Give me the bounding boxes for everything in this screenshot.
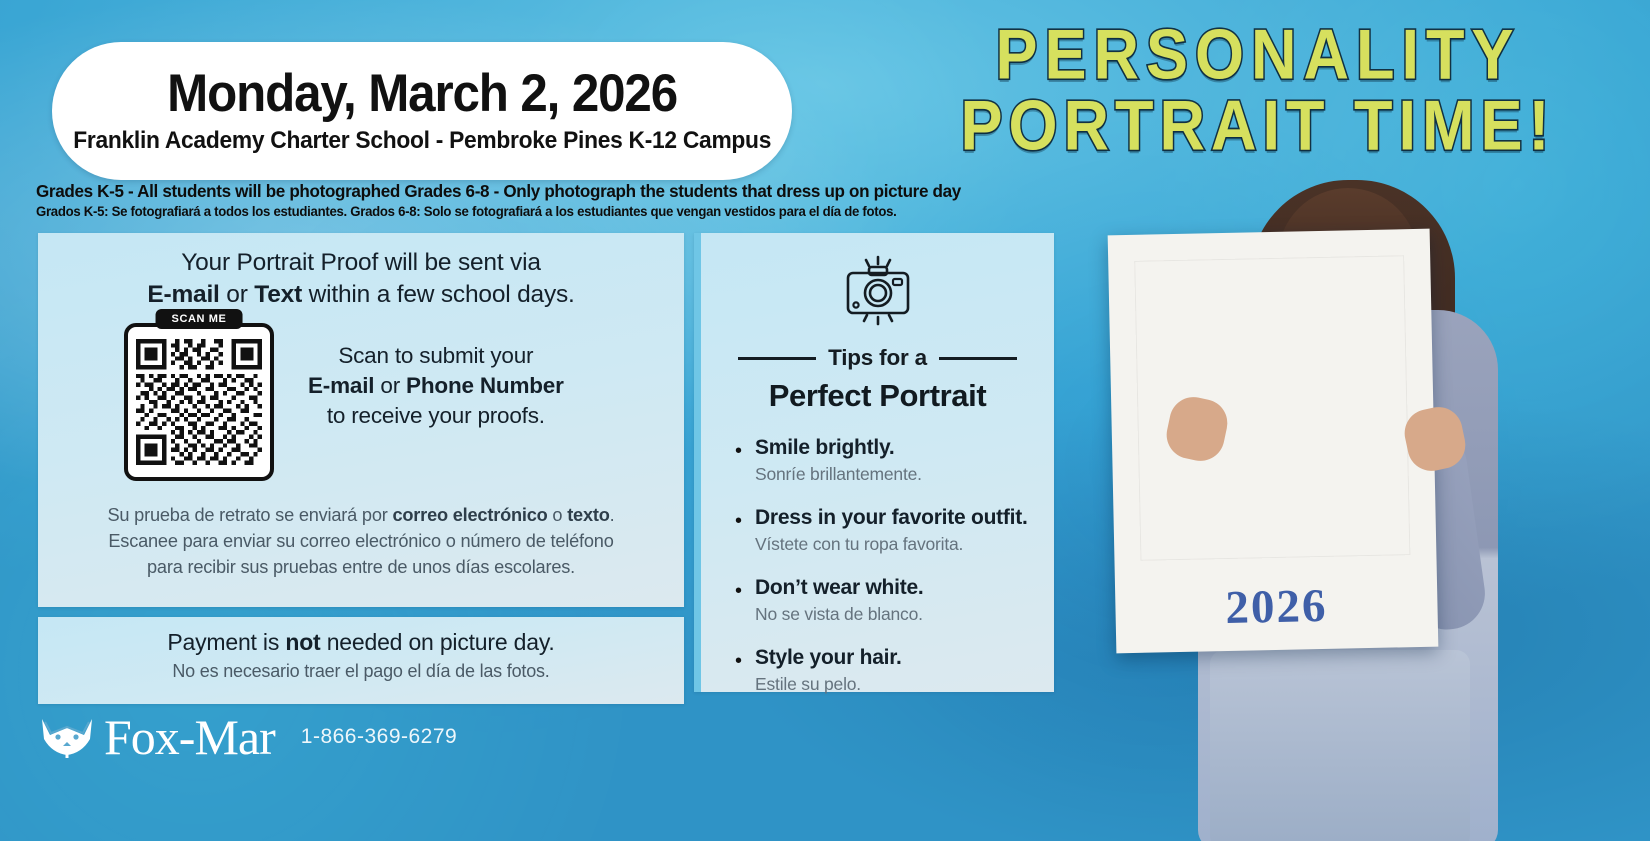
tip-english: Style your hair.	[755, 646, 902, 670]
tip-spanish: No se vista de blanco.	[755, 604, 923, 625]
proof-spanish-line-2: Escanee para enviar su correo electrónic…	[52, 529, 670, 555]
portrait-proof-panel: Your Portrait Proof will be sent via E-m…	[38, 233, 684, 607]
scan-line-2: E-mail or Phone Number	[308, 371, 564, 401]
bullet-icon: •	[735, 581, 742, 625]
bullet-icon: •	[735, 651, 742, 695]
grades-note: Grades K-5 - All students will be photog…	[36, 181, 1126, 219]
tips-eyebrow-text: Tips for a	[828, 345, 927, 371]
tip-english: Smile brightly.	[755, 436, 922, 460]
headline-line-1: PERSONALITY	[878, 22, 1638, 88]
payment-english: Payment is not needed on picture day.	[38, 617, 684, 656]
payment-en-not: not	[285, 629, 320, 655]
tip-spanish: Vístete con tu ropa favorita.	[755, 534, 1028, 555]
scan-line-1: Scan to submit your	[308, 341, 564, 371]
bullet-icon: •	[735, 441, 742, 485]
proof-es-o: o	[548, 505, 568, 525]
qr-frame[interactable]	[124, 323, 274, 481]
proof-es-a: Su prueba de retrato se enviará por	[107, 505, 392, 525]
picture-day-date: Monday, March 2, 2026	[167, 67, 677, 121]
qr-code-icon[interactable]	[136, 339, 262, 465]
scan-me-badge: SCAN ME	[156, 309, 243, 329]
scan-or: or	[374, 373, 406, 398]
headline-line-2: PORTRAIT TIME!	[878, 94, 1638, 160]
grades-note-english: Grades K-5 - All students will be photog…	[36, 181, 1093, 202]
qr-wrapper[interactable]: SCAN ME	[124, 323, 274, 481]
proof-es-texto: texto	[567, 505, 609, 525]
proof-title: Your Portrait Proof will be sent via E-m…	[38, 233, 684, 309]
tips-panel: Tips for a Perfect Portrait • Smile brig…	[694, 233, 1054, 692]
phone-number: 1-866-369-6279	[301, 725, 457, 749]
rule-right	[939, 357, 1017, 360]
payment-en-post: needed on picture day.	[321, 629, 555, 655]
date-pill: Monday, March 2, 2026 Franklin Academy C…	[52, 42, 792, 180]
tip-english: Dress in your favorite outfit.	[755, 506, 1028, 530]
payment-en-pre: Payment is	[167, 629, 285, 655]
polaroid-frame: 2026	[1108, 229, 1439, 654]
proof-es-email: correo electrónico	[392, 505, 547, 525]
proof-title-text: Text	[254, 281, 302, 308]
grades-note-spanish: Grados K-5: Se fotografiará a todos los …	[36, 204, 1093, 219]
qr-row: SCAN ME	[38, 309, 684, 481]
student-jeans	[1210, 650, 1470, 841]
headline: PERSONALITY PORTRAIT TIME!	[878, 26, 1638, 156]
scan-email-label: E-mail	[308, 373, 374, 398]
proof-spanish-line-1: Su prueba de retrato se enviará por corr…	[52, 503, 670, 529]
brand-name: Fox-Mar	[104, 712, 275, 762]
tip-spanish: Estile su pelo.	[755, 674, 902, 695]
tips-list: • Smile brightly. Sonríe brillantemente.…	[735, 436, 1054, 695]
footer: Fox-Mar 1-866-369-6279	[36, 712, 457, 762]
scan-instructions: Scan to submit your E-mail or Phone Numb…	[308, 323, 564, 431]
tips-eyebrow: Tips for a	[701, 345, 1054, 371]
proof-title-line-2: E-mail or Text within a few school days.	[38, 281, 684, 309]
proof-spanish: Su prueba de retrato se enviará por corr…	[38, 503, 684, 581]
proof-title-email: E-mail	[147, 281, 219, 308]
proof-spanish-line-3: para recibir sus pruebas entre de unos d…	[52, 555, 670, 581]
list-item: • Style your hair. Estile su pelo.	[735, 646, 1054, 695]
payment-spanish: No es necesario traer el pago el día de …	[38, 661, 684, 682]
bullet-icon: •	[735, 511, 742, 555]
school-name: Franklin Academy Charter School - Pembro…	[73, 127, 771, 155]
list-item: • Smile brightly. Sonríe brillantemente.	[735, 436, 1054, 485]
proof-title-tail: within a few school days.	[302, 281, 575, 308]
list-item: • Dress in your favorite outfit. Vístete…	[735, 506, 1054, 555]
proof-title-line-1: Your Portrait Proof will be sent via	[38, 249, 684, 277]
rule-left	[738, 357, 816, 360]
tip-spanish: Sonríe brillantemente.	[755, 464, 922, 485]
scan-phone-label: Phone Number	[406, 373, 564, 398]
camera-icon	[701, 255, 1054, 329]
scan-line-3: to receive your proofs.	[308, 401, 564, 431]
payment-panel: Payment is not needed on picture day. No…	[38, 617, 684, 704]
list-item: • Don’t wear white. No se vista de blanc…	[735, 576, 1054, 625]
polaroid-year: 2026	[1115, 577, 1438, 638]
tip-english: Don’t wear white.	[755, 576, 923, 600]
tips-heading: Perfect Portrait	[701, 378, 1054, 414]
proof-title-or: or	[220, 281, 255, 308]
fox-logo-icon	[36, 713, 98, 761]
proof-es-period: .	[610, 505, 615, 525]
